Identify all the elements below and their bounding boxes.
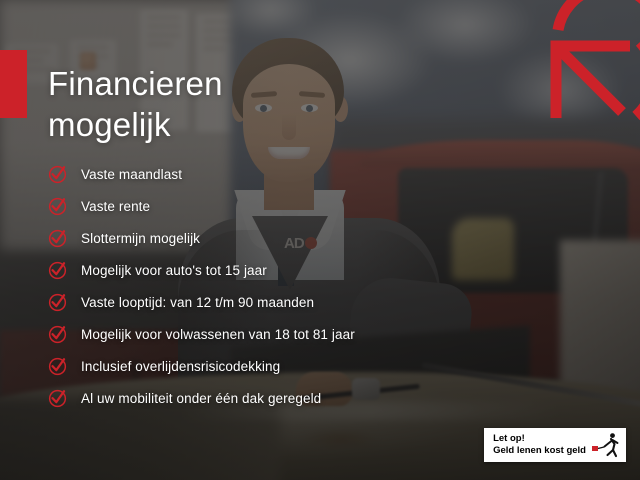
legal-warning-banner: Let op! Geld lenen kost geld <box>484 428 626 462</box>
list-item: Vaste rente <box>48 190 528 222</box>
legal-warning-text: Let op! Geld lenen kost geld <box>493 433 586 457</box>
circled-checkmark-icon <box>48 261 67 280</box>
legal-line-2: Geld lenen kost geld <box>493 445 586 457</box>
list-item: Mogelijk voor volwassenen van 18 tot 81 … <box>48 318 528 350</box>
legal-line-1: Let op! <box>493 433 586 445</box>
benefits-list: Vaste maandlast Vaste rente Slottermijn … <box>48 158 528 414</box>
list-item: Vaste looptijd: van 12 t/m 90 maanden <box>48 286 528 318</box>
list-item: Al uw mobiliteit onder één dak geregeld <box>48 382 528 414</box>
benefit-label: Inclusief overlijdensrisicodekking <box>81 359 280 374</box>
circled-checkmark-icon <box>48 197 67 216</box>
benefit-label: Vaste looptijd: van 12 t/m 90 maanden <box>81 295 314 310</box>
promo-banner: AD <box>0 0 640 480</box>
accent-block <box>0 50 27 118</box>
benefit-label: Mogelijk voor volwassenen van 18 tot 81 … <box>81 327 355 342</box>
partial-ring-arrow-logo-icon <box>518 0 640 124</box>
circled-checkmark-icon <box>48 325 67 344</box>
list-item: Vaste maandlast <box>48 158 528 190</box>
headline-line-1: Financieren <box>48 65 223 102</box>
circled-checkmark-icon <box>48 229 67 248</box>
circled-checkmark-icon <box>48 165 67 184</box>
circled-checkmark-icon <box>48 389 67 408</box>
running-man-pulling-block-icon <box>592 432 620 458</box>
list-item: Inclusief overlijdensrisicodekking <box>48 350 528 382</box>
benefit-label: Vaste rente <box>81 199 150 214</box>
circled-checkmark-icon <box>48 293 67 312</box>
benefit-label: Vaste maandlast <box>81 167 182 182</box>
circled-checkmark-icon <box>48 357 67 376</box>
list-item: Slottermijn mogelijk <box>48 222 528 254</box>
benefit-label: Al uw mobiliteit onder één dak geregeld <box>81 391 321 406</box>
list-item: Mogelijk voor auto's tot 15 jaar <box>48 254 528 286</box>
page-title: Financieren mogelijk <box>48 64 378 146</box>
headline-line-2: mogelijk <box>48 105 378 146</box>
benefit-label: Mogelijk voor auto's tot 15 jaar <box>81 263 267 278</box>
benefit-label: Slottermijn mogelijk <box>81 231 200 246</box>
